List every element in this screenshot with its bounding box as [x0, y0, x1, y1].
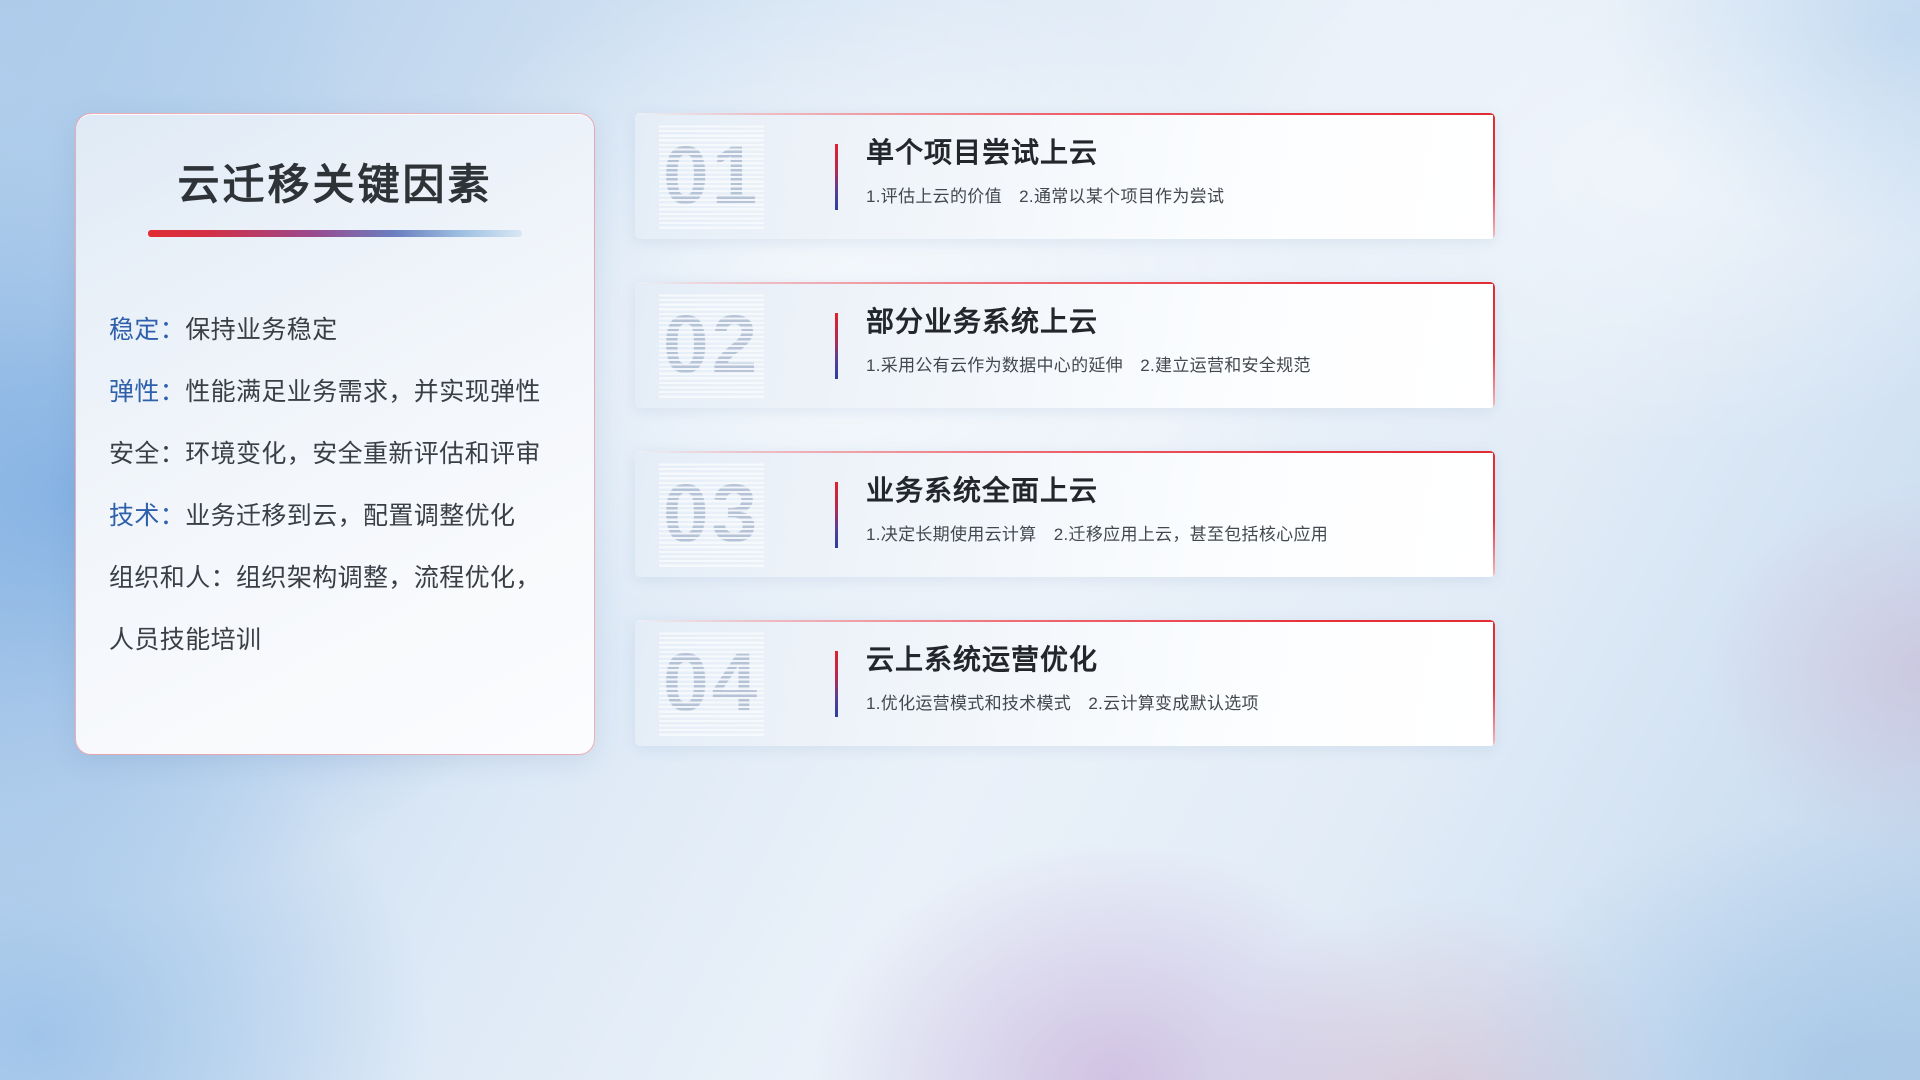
factor-label: 稳定：	[109, 316, 185, 344]
step-card-02[interactable]: 02 部分业务系统上云 1.采用公有云作为数据中心的延伸 2.建立运营和安全规范	[635, 282, 1495, 408]
step-body: 单个项目尝试上云 1.评估上云的价值 2.通常以某个项目作为尝试	[866, 135, 1469, 207]
migration-steps-list: 01 单个项目尝试上云 1.评估上云的价值 2.通常以某个项目作为尝试 02 部…	[635, 113, 1495, 789]
factor-text: 业务迁移到云，配置调整优化	[185, 502, 515, 530]
step-title: 部分业务系统上云	[866, 304, 1469, 340]
factor-text: 环境变化，安全重新评估和评审	[185, 440, 541, 468]
step-description: 1.决定长期使用云计算 2.迁移应用上云，甚至包括核心应用	[866, 520, 1469, 545]
factor-list: 稳定：保持业务稳定 弹性：性能满足业务需求，并实现弹性 安全：环境变化，安全重新…	[76, 237, 594, 671]
step-title: 单个项目尝试上云	[866, 135, 1469, 171]
page-title: 云迁移关键因素	[76, 162, 594, 208]
step-number-watermark: 02	[663, 298, 760, 392]
step-card-04[interactable]: 04 云上系统运营优化 1.优化运营模式和技术模式 2.云计算变成默认选项	[635, 620, 1495, 746]
step-divider-bar	[835, 313, 838, 379]
step-card-01[interactable]: 01 单个项目尝试上云 1.评估上云的价值 2.通常以某个项目作为尝试	[635, 113, 1495, 239]
list-item: 安全：环境变化，安全重新评估和评审	[109, 423, 594, 485]
factor-text: 性能满足业务需求，并实现弹性	[185, 378, 541, 406]
list-item: 人员技能培训	[109, 609, 594, 671]
step-description: 1.采用公有云作为数据中心的延伸 2.建立运营和安全规范	[866, 351, 1469, 376]
factor-label: 组织和人：	[109, 564, 236, 592]
key-factors-panel: 云迁移关键因素 稳定：保持业务稳定 弹性：性能满足业务需求，并实现弹性 安全：环…	[75, 113, 595, 755]
step-divider-bar	[835, 482, 838, 548]
factor-label: 技术：	[109, 502, 185, 530]
list-item: 技术：业务迁移到云，配置调整优化	[109, 485, 594, 547]
step-description: 1.优化运营模式和技术模式 2.云计算变成默认选项	[866, 689, 1469, 714]
step-divider-bar	[835, 651, 838, 717]
factor-label: 安全：	[109, 440, 185, 468]
step-body: 云上系统运营优化 1.优化运营模式和技术模式 2.云计算变成默认选项	[866, 642, 1469, 714]
list-item: 弹性：性能满足业务需求，并实现弹性	[109, 361, 594, 423]
list-item: 组织和人：组织架构调整，流程优化，	[109, 547, 594, 609]
step-number-watermark: 01	[663, 129, 760, 223]
step-number-watermark: 03	[663, 467, 760, 561]
step-body: 业务系统全面上云 1.决定长期使用云计算 2.迁移应用上云，甚至包括核心应用	[866, 473, 1469, 545]
factor-text: 保持业务稳定	[185, 316, 337, 344]
step-body: 部分业务系统上云 1.采用公有云作为数据中心的延伸 2.建立运营和安全规范	[866, 304, 1469, 376]
step-title: 云上系统运营优化	[866, 642, 1469, 678]
step-number-watermark: 04	[663, 636, 760, 730]
factor-text: 组织架构调整，流程优化，	[236, 564, 541, 592]
step-description: 1.评估上云的价值 2.通常以某个项目作为尝试	[866, 182, 1469, 207]
list-item: 稳定：保持业务稳定	[109, 299, 594, 361]
factor-text: 人员技能培训	[109, 626, 261, 654]
step-title: 业务系统全面上云	[866, 473, 1469, 509]
step-card-03[interactable]: 03 业务系统全面上云 1.决定长期使用云计算 2.迁移应用上云，甚至包括核心应…	[635, 451, 1495, 577]
step-divider-bar	[835, 144, 838, 210]
factor-label: 弹性：	[109, 378, 185, 406]
title-underline-gradient	[148, 230, 522, 237]
panel-header: 云迁移关键因素	[76, 114, 594, 237]
